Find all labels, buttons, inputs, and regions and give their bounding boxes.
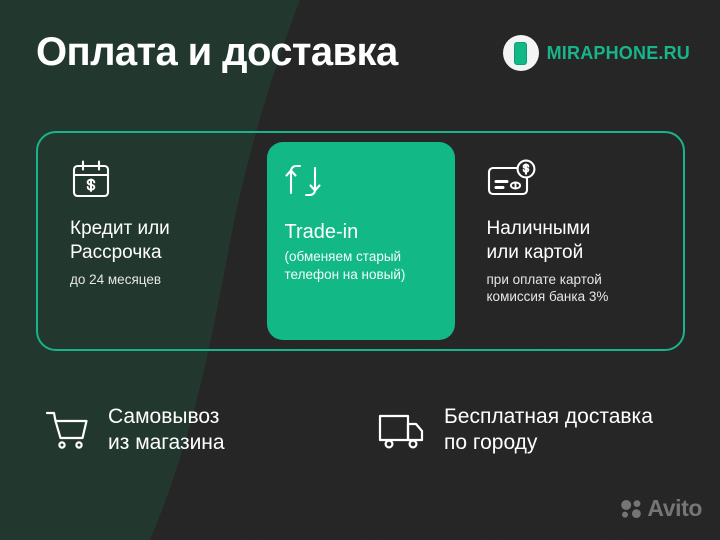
credit-card-dollar-icon (487, 159, 684, 205)
shopping-cart-icon (44, 409, 92, 451)
option-subtitle: при оплате картой комиссия банка 3% (487, 271, 684, 305)
swap-arrows-icon (285, 160, 455, 206)
feature-label: Самовывоз из магазина (108, 404, 225, 456)
option-credit[interactable]: Кредит или Рассрочка до 24 месяцев (38, 133, 267, 349)
poster-canvas: Оплата и доставка MIRAPHONE.RU (0, 0, 720, 540)
avito-label: Avito (647, 495, 702, 522)
delivery-truck-icon (380, 409, 428, 451)
feature-label: Бесплатная доставка по городу (444, 404, 653, 456)
avito-watermark: Avito (620, 495, 702, 522)
option-cash-or-card[interactable]: Наличными или картой при оплате картой к… (455, 133, 684, 349)
option-title: Наличными или картой (487, 217, 684, 265)
feature-delivery[interactable]: Бесплатная доставка по городу (380, 404, 653, 456)
option-title: Кредит или Рассрочка (70, 217, 267, 265)
option-subtitle: (обменяем старый телефон на новый) (285, 248, 455, 284)
brand-logo: MIRAPHONE.RU (503, 35, 690, 71)
brand-name: MIRAPHONE.RU (547, 43, 690, 64)
option-subtitle: до 24 месяцев (70, 271, 267, 288)
delivery-features: Самовывоз из магазина Бесплатная доставк… (44, 404, 684, 456)
phone-icon (503, 35, 539, 71)
avito-dots-icon (620, 499, 642, 519)
option-trade-in[interactable]: Trade-in (обменяем старый телефон на нов… (267, 142, 455, 340)
payment-options-card: Кредит или Рассрочка до 24 месяцев Trade… (36, 131, 685, 351)
calendar-dollar-icon (70, 159, 267, 205)
page-title: Оплата и доставка (36, 29, 398, 75)
feature-pickup[interactable]: Самовывоз из магазина (44, 404, 380, 456)
option-title: Trade-in (285, 220, 455, 244)
